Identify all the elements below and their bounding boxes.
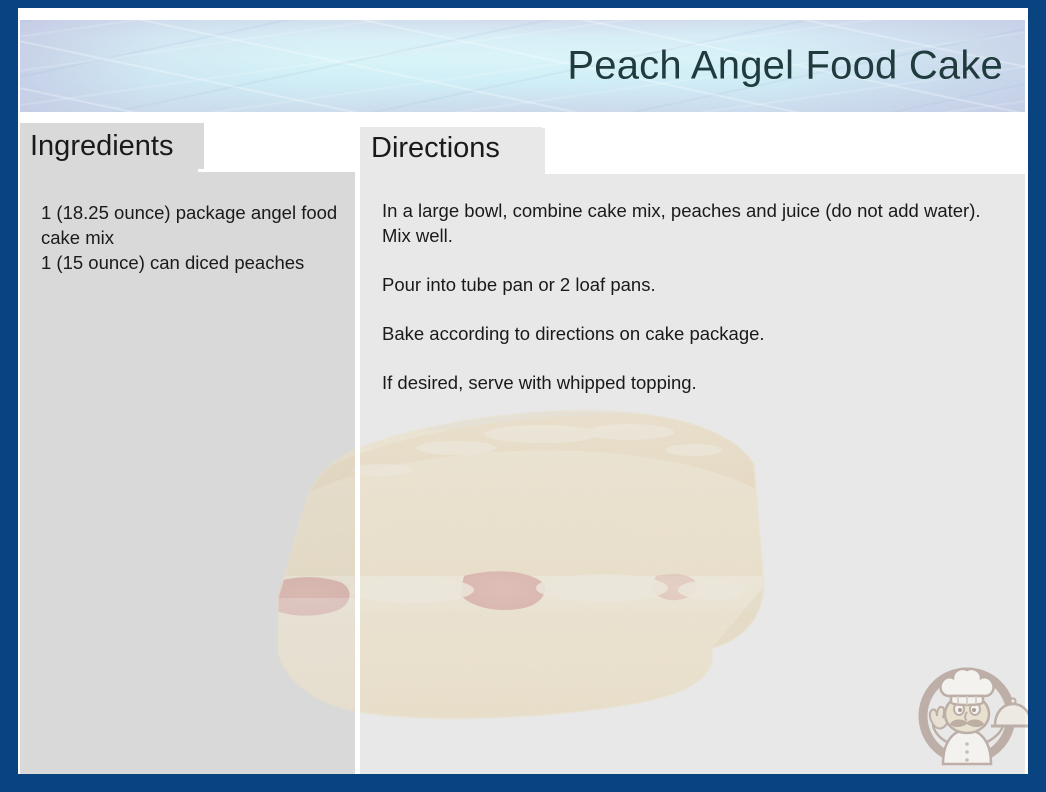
ingredients-heading: Ingredients bbox=[20, 123, 204, 169]
directions-heading: Directions bbox=[359, 127, 542, 171]
directions-panel: Directions In a large bowl, combine cake… bbox=[359, 128, 1025, 774]
ingredients-list: 1 (18.25 ounce) package angel food cake … bbox=[41, 200, 341, 275]
list-item: 1 (18.25 ounce) package angel food cake … bbox=[41, 200, 341, 250]
ingredients-heading-notch bbox=[198, 124, 357, 172]
panel-divider bbox=[355, 124, 360, 774]
header-banner: Peach Angel Food Cake bbox=[20, 20, 1025, 112]
direction-step: In a large bowl, combine cake mix, peach… bbox=[382, 198, 1007, 248]
page-title: Peach Angel Food Cake bbox=[567, 44, 1003, 89]
direction-step: Pour into tube pan or 2 loaf pans. bbox=[382, 272, 1007, 297]
direction-step: Bake according to directions on cake pac… bbox=[382, 321, 1007, 346]
list-item: 1 (15 ounce) can diced peaches bbox=[41, 250, 341, 275]
direction-step: If desired, serve with whipped topping. bbox=[382, 370, 1007, 395]
directions-steps: In a large bowl, combine cake mix, peach… bbox=[382, 198, 1007, 395]
card-inner-surface: Peach Angel Food Cake Ingredients 1 (18.… bbox=[18, 8, 1028, 774]
ingredients-panel: Ingredients 1 (18.25 ounce) package ange… bbox=[20, 124, 357, 774]
directions-heading-notch bbox=[545, 128, 1025, 174]
recipe-card: Peach Angel Food Cake Ingredients 1 (18.… bbox=[0, 0, 1046, 792]
